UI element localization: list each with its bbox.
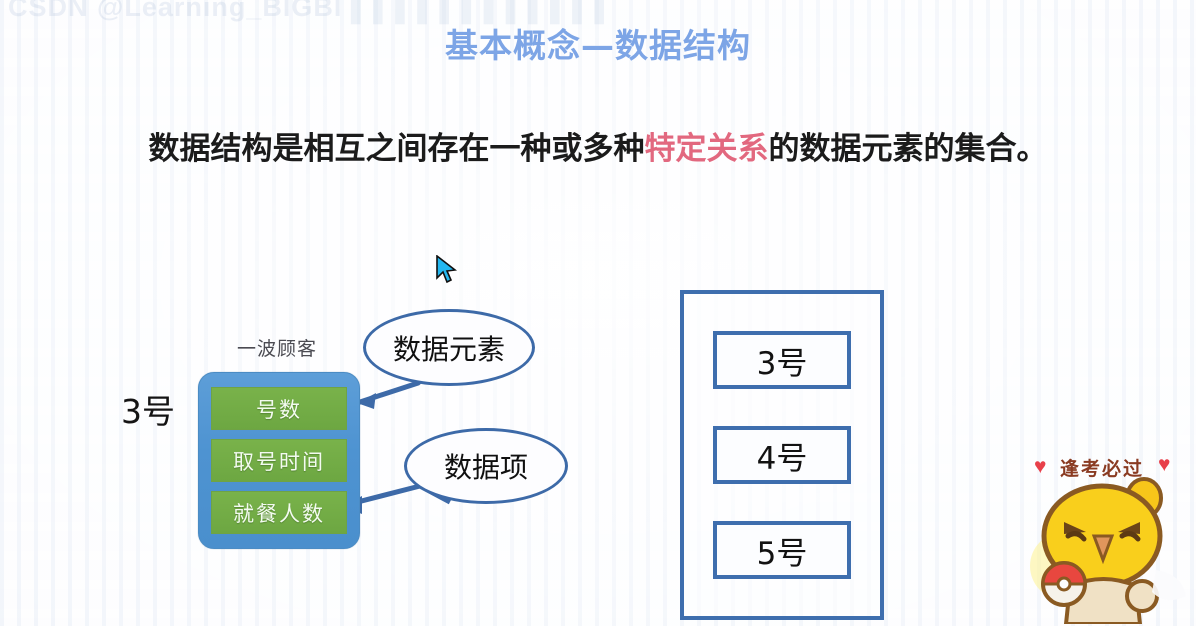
definition-highlight: 特定关系	[645, 131, 769, 167]
queue-position-label: 3号	[121, 385, 175, 433]
callout-data-element-label: 数据元素	[393, 328, 505, 368]
definition-sentence: 数据结构是相互之间存在一种或多种特定关系的数据元素的集合。	[0, 123, 1196, 168]
callout-data-item[interactable]: 数据项	[404, 428, 568, 504]
page-title: 基本概念—数据结构	[0, 19, 1196, 67]
data-item-1[interactable]: 号数	[211, 387, 347, 430]
element-card[interactable]: 号数 取号时间 就餐人数	[198, 372, 360, 549]
mouse-cursor-icon	[435, 255, 457, 285]
customer-group-caption: 一波顾客	[237, 334, 317, 361]
mascot-character-icon	[1024, 474, 1194, 624]
waiting-queue-panel: 3号 4号 5号	[680, 290, 884, 620]
queue-slot-2[interactable]: 4号	[713, 426, 851, 484]
heart-icon-right: ♥	[1158, 454, 1170, 475]
queue-slot-1[interactable]: 3号	[713, 331, 851, 389]
data-item-3[interactable]: 就餐人数	[211, 491, 347, 534]
mascot-sticker: ♥ ♥ 逢考必过	[1006, 446, 1196, 626]
queue-slot-3[interactable]: 5号	[713, 521, 851, 579]
callout-data-item-label: 数据项	[444, 446, 528, 486]
definition-part-1: 数据结构是相互之间存在一种或多种	[149, 131, 645, 167]
data-item-2[interactable]: 取号时间	[211, 439, 347, 482]
callout-data-element[interactable]: 数据元素	[363, 309, 535, 386]
definition-part-2: 的数据元素的集合。	[769, 131, 1048, 167]
